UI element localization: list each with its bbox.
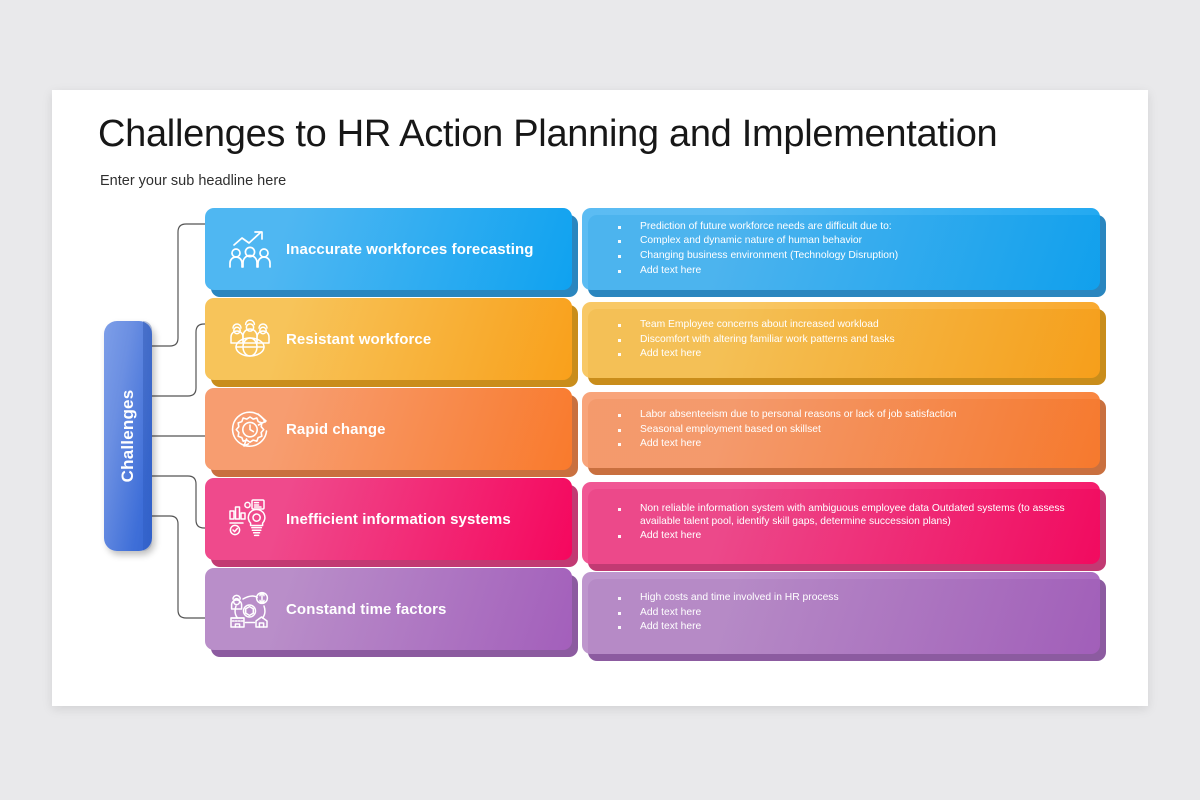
bullet-item: High costs and time involved in HR proce… bbox=[614, 592, 1082, 605]
cost-time-network-icon bbox=[214, 586, 286, 632]
challenge-label-card[interactable]: Resistant workforce bbox=[205, 298, 572, 380]
challenge-detail-card[interactable]: Prediction of future workforce needs are… bbox=[582, 208, 1100, 290]
challenge-label-card[interactable]: Inaccurate workforces forecasting bbox=[205, 208, 572, 290]
bullet-list: Labor absenteeism due to personal reason… bbox=[614, 392, 1082, 468]
bullet-item: Discomfort with altering familiar work p… bbox=[614, 334, 1082, 347]
bullet-list: High costs and time involved in HR proce… bbox=[614, 572, 1082, 654]
challenge-label-card[interactable]: Inefficient information systems bbox=[205, 478, 572, 560]
challenges-tab-label: Challenges bbox=[118, 390, 138, 483]
challenge-label-card[interactable]: Constand time factors bbox=[205, 568, 572, 650]
bullet-item: Seasonal employment based on skillset bbox=[614, 424, 1082, 437]
bullet-item: Add text here bbox=[614, 607, 1082, 620]
bullet-item: Add text here bbox=[614, 530, 1082, 543]
challenge-label-text: Resistant workforce bbox=[286, 331, 431, 348]
bullet-item: Add text here bbox=[614, 265, 1082, 278]
challenge-label-text: Rapid change bbox=[286, 421, 386, 438]
slide-canvas: Challenges to HR Action Planning and Imp… bbox=[52, 90, 1148, 706]
challenge-detail-card[interactable]: Non reliable information system with amb… bbox=[582, 482, 1100, 564]
challenge-label-text: Constand time factors bbox=[286, 601, 446, 618]
challenge-detail-card[interactable]: High costs and time involved in HR proce… bbox=[582, 572, 1100, 654]
bullet-list: Team Employee concerns about increased w… bbox=[614, 302, 1082, 378]
bullet-item: Labor absenteeism due to personal reason… bbox=[614, 409, 1082, 422]
bullet-item: Add text here bbox=[614, 348, 1082, 361]
challenge-label-card[interactable]: Rapid change bbox=[205, 388, 572, 470]
workers-globe-icon bbox=[214, 316, 286, 362]
bullet-item: Add text here bbox=[614, 438, 1082, 451]
gear-clock-refresh-icon bbox=[214, 406, 286, 452]
bullet-item: Non reliable information system with amb… bbox=[614, 503, 1082, 528]
challenge-label-text: Inefficient information systems bbox=[286, 511, 511, 528]
challenge-detail-card[interactable]: Team Employee concerns about increased w… bbox=[582, 302, 1100, 378]
bullet-item: Add text here bbox=[614, 621, 1082, 634]
challenge-detail-card[interactable]: Labor absenteeism due to personal reason… bbox=[582, 392, 1100, 468]
challenge-label-text: Inaccurate workforces forecasting bbox=[286, 241, 534, 258]
page-title: Challenges to HR Action Planning and Imp… bbox=[98, 113, 997, 156]
page-subtitle: Enter your sub headline here bbox=[100, 173, 286, 189]
bullet-list: Prediction of future workforce needs are… bbox=[614, 208, 1082, 290]
bullet-item: Team Employee concerns about increased w… bbox=[614, 319, 1082, 332]
data-lightbulb-icon bbox=[214, 496, 286, 542]
challenges-side-tab[interactable]: Challenges bbox=[104, 321, 152, 551]
bullet-item: Complex and dynamic nature of human beha… bbox=[614, 235, 1082, 248]
bullet-item: Changing business environment (Technolog… bbox=[614, 250, 1082, 263]
bullet-list: Non reliable information system with amb… bbox=[614, 482, 1082, 564]
bullet-item: Prediction of future workforce needs are… bbox=[614, 221, 1082, 234]
people-growth-arrow-icon bbox=[214, 227, 286, 271]
tab-edge-highlight bbox=[143, 321, 152, 551]
